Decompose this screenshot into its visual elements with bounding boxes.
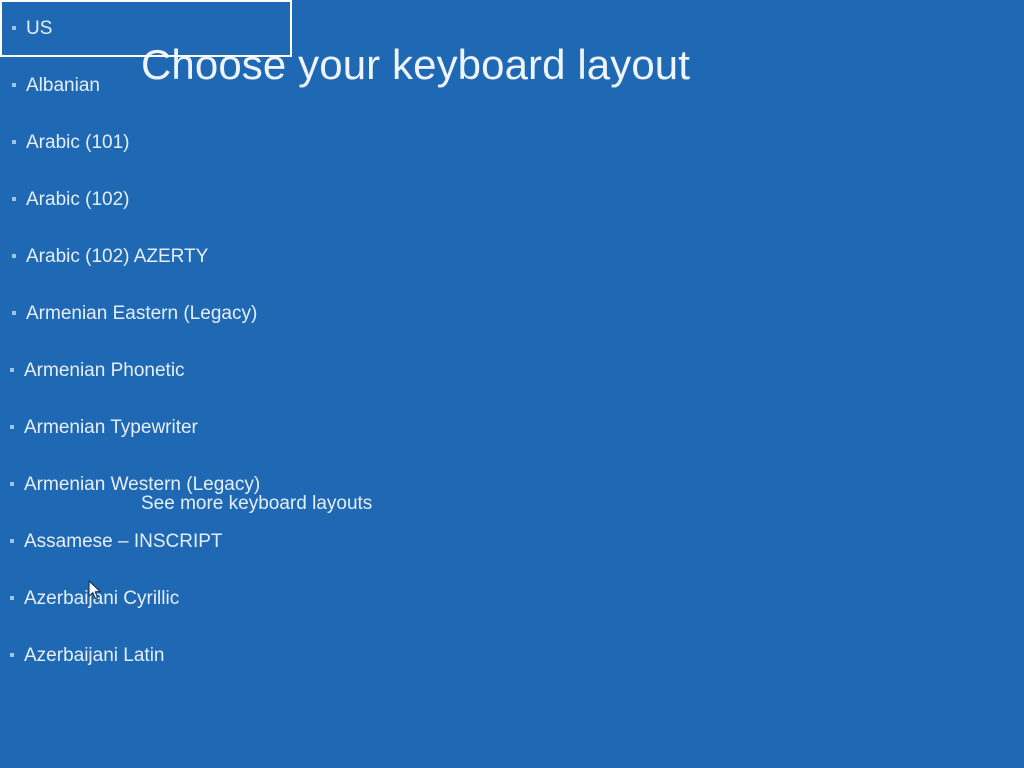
keyboard-layout-option-assamese-inscript[interactable]: Assamese – INSCRIPT <box>0 513 330 570</box>
bullet-icon <box>12 311 16 315</box>
keyboard-layout-option-armenian-phonetic[interactable]: Armenian Phonetic <box>0 342 330 399</box>
keyboard-layout-option-albanian[interactable]: Albanian <box>0 57 292 114</box>
keyboard-layout-label: Armenian Eastern (Legacy) <box>26 302 257 326</box>
bullet-icon <box>10 425 14 429</box>
keyboard-layout-label: Albanian <box>26 74 100 98</box>
keyboard-layout-option-azerbaijani-latin[interactable]: Azerbaijani Latin <box>0 627 330 684</box>
keyboard-layout-label: Arabic (101) <box>26 131 130 155</box>
keyboard-layout-label: Assamese – INSCRIPT <box>24 530 223 554</box>
keyboard-layout-option-arabic-102-azerty[interactable]: Arabic (102) AZERTY <box>0 228 292 285</box>
bullet-icon <box>10 368 14 372</box>
keyboard-layout-label: Azerbaijani Latin <box>24 644 164 668</box>
keyboard-layout-option-us[interactable]: US <box>0 0 292 57</box>
keyboard-layout-option-armenian-typewriter[interactable]: Armenian Typewriter <box>0 399 330 456</box>
bullet-icon <box>12 197 16 201</box>
keyboard-layout-option-azerbaijani-cyrillic[interactable]: Azerbaijani Cyrillic <box>0 570 330 627</box>
bullet-icon <box>10 653 14 657</box>
keyboard-layout-list-left: US Albanian Arabic (101) Arabic (102) Ar… <box>0 0 292 342</box>
bullet-icon <box>12 140 16 144</box>
keyboard-layout-label: Azerbaijani Cyrillic <box>24 587 179 611</box>
keyboard-layout-label: Armenian Typewriter <box>24 416 198 440</box>
keyboard-layout-option-arabic-101[interactable]: Arabic (101) <box>0 114 292 171</box>
bullet-icon <box>10 482 14 486</box>
keyboard-layout-label: US <box>26 17 52 41</box>
keyboard-layout-label: Arabic (102) <box>26 188 130 212</box>
bullet-icon <box>12 254 16 258</box>
keyboard-layout-screen: Choose your keyboard layout US Albanian … <box>0 0 1024 768</box>
see-more-keyboard-layouts-link[interactable]: See more keyboard layouts <box>141 492 372 516</box>
bullet-icon <box>12 83 16 87</box>
keyboard-layout-label: Armenian Phonetic <box>24 359 185 383</box>
bullet-icon <box>10 539 14 543</box>
keyboard-layout-option-armenian-eastern-legacy[interactable]: Armenian Eastern (Legacy) <box>0 285 292 342</box>
bullet-icon <box>12 26 16 30</box>
bullet-icon <box>10 596 14 600</box>
keyboard-layout-option-arabic-102[interactable]: Arabic (102) <box>0 171 292 228</box>
keyboard-layout-label: Arabic (102) AZERTY <box>26 245 208 269</box>
